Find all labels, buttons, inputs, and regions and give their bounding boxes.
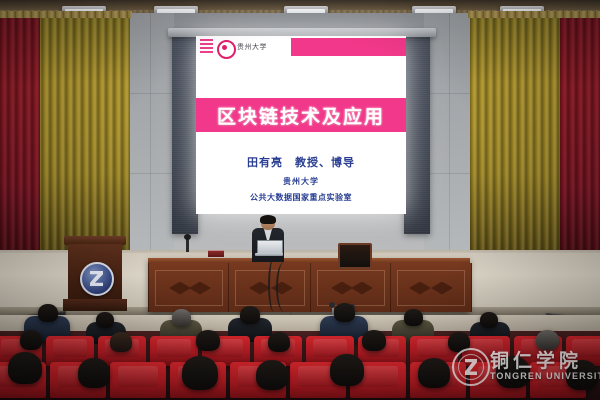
table-panel xyxy=(148,263,230,312)
pink-stripes-icon xyxy=(200,39,213,55)
audience-head xyxy=(196,330,220,351)
wall-panel-left xyxy=(126,13,174,253)
curtain-rail-left xyxy=(0,11,132,18)
slide-header-bar xyxy=(291,38,406,56)
gold-curtain-left xyxy=(34,13,130,261)
audience-head xyxy=(8,352,42,384)
chair xyxy=(338,243,372,269)
slide-title: 区块链技术及应用 xyxy=(217,102,385,129)
watermark-chinese: 铜仁学院 xyxy=(490,346,582,373)
audience-head xyxy=(20,330,42,350)
watermark: 铜仁学院 TONGREN UNIVERSITY xyxy=(452,344,592,392)
audience-head xyxy=(404,309,423,326)
curtain-rail-right xyxy=(468,11,600,18)
guizhou-university-logo-icon xyxy=(217,40,236,59)
table-panel xyxy=(390,263,472,312)
audience-head xyxy=(78,358,110,388)
audience-head xyxy=(38,304,58,322)
watermark-english: TONGREN UNIVERSITY xyxy=(490,371,600,381)
slide-header: 贵州大学 xyxy=(196,36,406,58)
wall-panel-right xyxy=(424,13,474,253)
audience-head xyxy=(110,332,132,352)
red-curtain-left xyxy=(0,13,40,261)
audience-head xyxy=(240,306,260,324)
podium xyxy=(68,236,122,312)
audience-head xyxy=(480,312,498,328)
laptop-icon xyxy=(255,240,283,255)
audience-head xyxy=(330,354,364,386)
university-emblem-icon xyxy=(80,262,114,296)
podium-base xyxy=(63,299,127,311)
slide-title-band: 区块链技术及应用 xyxy=(196,98,406,132)
red-curtain-right xyxy=(560,13,600,261)
podium-body xyxy=(68,244,122,300)
auditorium-photo: 贵州大学 区块链技术及应用 田有亮 教授、博导 贵州大学 公共大数据国家重点实验… xyxy=(0,0,600,400)
audience-head xyxy=(362,330,386,351)
audience-head xyxy=(334,303,355,322)
audience-head xyxy=(268,332,290,352)
presentation-slide: 贵州大学 区块链技术及应用 田有亮 教授、博导 贵州大学 公共大数据国家重点实验… xyxy=(196,36,406,214)
audience-head xyxy=(256,360,288,390)
slide-presenter: 田有亮 教授、博导 xyxy=(196,154,406,170)
presenter-hair xyxy=(260,215,276,224)
gold-curtain-right xyxy=(470,13,566,261)
slide-header-university: 贵州大学 xyxy=(237,42,267,52)
screen-side-panel-left xyxy=(172,34,198,234)
slide-organization: 贵州大学 xyxy=(196,176,406,187)
slide-laboratory: 公共大数据国家重点实验室 xyxy=(196,192,406,203)
audience-head xyxy=(182,356,218,390)
university-seal-icon xyxy=(452,348,490,386)
audience-head xyxy=(96,312,114,328)
screen-side-panel-right xyxy=(404,34,430,234)
projection-screen: 贵州大学 区块链技术及应用 田有亮 教授、博导 贵州大学 公共大数据国家重点实验… xyxy=(196,36,406,214)
seat xyxy=(110,362,166,398)
nameplate xyxy=(208,250,224,257)
microphone-icon xyxy=(186,238,189,252)
audience-head xyxy=(418,358,450,388)
audience-head xyxy=(172,309,191,326)
